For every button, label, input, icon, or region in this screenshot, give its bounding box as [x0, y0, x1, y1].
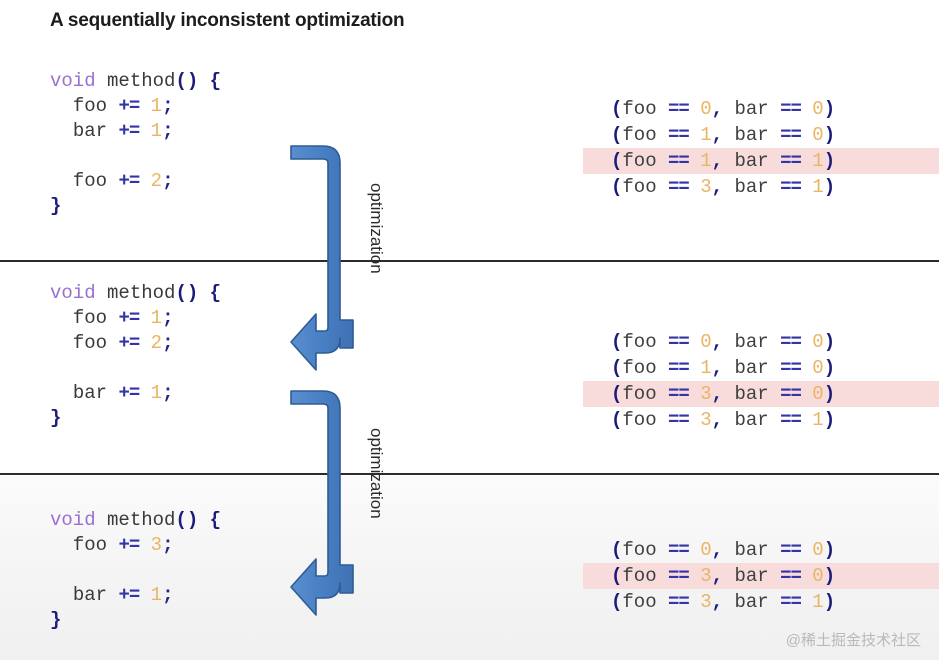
state-close-paren: ) — [824, 409, 835, 431]
state-equals: == — [668, 150, 689, 172]
token-variable: bar — [73, 120, 107, 142]
state-space — [801, 150, 812, 172]
state-open-paren: ( — [611, 383, 622, 405]
token-indent — [50, 332, 73, 354]
state-equals: == — [668, 565, 689, 587]
token-space — [107, 120, 118, 142]
page-title: A sequentially inconsistent optimization — [50, 10, 404, 32]
state-comma: , — [712, 124, 735, 146]
state-space — [801, 357, 812, 379]
state-space — [689, 331, 700, 353]
state-bar-value: 1 — [812, 150, 823, 172]
state-bar-label: bar — [734, 98, 780, 120]
token-indent — [50, 584, 73, 606]
state-space — [689, 176, 700, 198]
state-foo-value: 0 — [700, 539, 711, 561]
token-brace-close: } — [50, 609, 61, 631]
token-semicolon: ; — [162, 584, 173, 606]
state-foo-label: foo — [622, 331, 668, 353]
token-operator: += — [118, 170, 139, 192]
state-bar-value: 0 — [812, 357, 823, 379]
code-block-original: void method() { foo += 1; bar += 1; foo … — [50, 69, 221, 219]
state-open-paren: ( — [611, 150, 622, 172]
token-parens: () — [175, 509, 198, 531]
state-comma: , — [712, 331, 735, 353]
state-equals: == — [668, 591, 689, 613]
token-variable: bar — [73, 382, 107, 404]
state-line: (foo == 0, bar == 0) — [583, 329, 939, 355]
token-variable: foo — [73, 95, 107, 117]
token-operator: += — [118, 332, 139, 354]
state-space — [801, 98, 812, 120]
state-bar-label: bar — [734, 409, 780, 431]
code-line-blank — [50, 356, 221, 381]
state-list-original: (foo == 0, bar == 0)(foo == 1, bar == 0)… — [583, 96, 939, 200]
token-keyword: void — [50, 70, 96, 92]
state-equals: == — [668, 124, 689, 146]
state-bar-value: 0 — [812, 539, 823, 561]
state-bar-value: 1 — [812, 176, 823, 198]
state-equals: == — [668, 409, 689, 431]
state-equals: == — [668, 98, 689, 120]
state-open-paren: ( — [611, 357, 622, 379]
state-space — [801, 565, 812, 587]
token-space — [107, 95, 118, 117]
state-open-paren: ( — [611, 98, 622, 120]
state-line: (foo == 1, bar == 0) — [583, 355, 939, 381]
token-semicolon: ; — [162, 332, 173, 354]
state-open-paren: ( — [611, 539, 622, 561]
token-semicolon: ; — [162, 307, 173, 329]
token-semicolon: ; — [162, 120, 173, 142]
state-equals: == — [780, 150, 801, 172]
state-foo-value: 3 — [700, 565, 711, 587]
arrow-label-1: optimization — [366, 183, 386, 274]
state-equals: == — [668, 176, 689, 198]
state-foo-label: foo — [622, 383, 668, 405]
state-line-highlighted: (foo == 1, bar == 1) — [583, 148, 939, 174]
token-space — [107, 332, 118, 354]
token-indent — [50, 534, 73, 556]
code-line-blank — [50, 558, 221, 583]
state-foo-label: foo — [622, 98, 668, 120]
token-keyword: void — [50, 282, 96, 304]
token-indent — [50, 382, 73, 404]
token-space — [139, 307, 150, 329]
state-close-paren: ) — [824, 176, 835, 198]
state-foo-value: 3 — [700, 383, 711, 405]
code-line-statement: bar += 1; — [50, 119, 221, 144]
state-space — [801, 591, 812, 613]
token-space — [107, 307, 118, 329]
token-operator: += — [118, 534, 139, 556]
code-block-optimized-twice: void method() { foo += 3; bar += 1;} — [50, 508, 221, 633]
token-semicolon: ; — [162, 534, 173, 556]
state-equals: == — [668, 331, 689, 353]
token-identifier: method — [96, 70, 176, 92]
state-close-paren: ) — [824, 383, 835, 405]
state-foo-label: foo — [622, 150, 668, 172]
token-identifier: method — [96, 282, 176, 304]
token-space — [107, 534, 118, 556]
state-equals: == — [780, 176, 801, 198]
state-line: (foo == 3, bar == 1) — [583, 407, 939, 433]
code-line-signature: void method() { — [50, 508, 221, 533]
token-semicolon: ; — [162, 382, 173, 404]
token-number: 2 — [151, 170, 162, 192]
state-space — [801, 383, 812, 405]
token-indent — [50, 120, 73, 142]
state-line: (foo == 3, bar == 1) — [583, 589, 939, 615]
state-equals: == — [780, 591, 801, 613]
state-foo-value: 1 — [700, 357, 711, 379]
state-foo-value: 3 — [700, 409, 711, 431]
token-operator: += — [118, 382, 139, 404]
token-brace-open: { — [198, 509, 221, 531]
state-close-paren: ) — [824, 591, 835, 613]
token-space — [139, 534, 150, 556]
token-parens: () — [175, 282, 198, 304]
state-bar-label: bar — [734, 176, 780, 198]
token-identifier: method — [96, 509, 176, 531]
state-close-paren: ) — [824, 565, 835, 587]
state-foo-label: foo — [622, 591, 668, 613]
state-space — [801, 124, 812, 146]
state-bar-value: 0 — [812, 331, 823, 353]
state-bar-value: 1 — [812, 409, 823, 431]
state-space — [689, 539, 700, 561]
code-line-brace-close: } — [50, 406, 221, 431]
state-line: (foo == 0, bar == 0) — [583, 537, 939, 563]
state-comma: , — [712, 565, 735, 587]
token-space — [139, 170, 150, 192]
state-space — [689, 98, 700, 120]
state-foo-value: 0 — [700, 98, 711, 120]
state-bar-label: bar — [734, 124, 780, 146]
token-brace-open: { — [198, 70, 221, 92]
state-comma: , — [712, 409, 735, 431]
token-space — [107, 382, 118, 404]
state-comma: , — [712, 383, 735, 405]
state-comma: , — [712, 539, 735, 561]
token-space — [139, 382, 150, 404]
state-foo-value: 1 — [700, 150, 711, 172]
state-open-paren: ( — [611, 565, 622, 587]
state-space — [689, 124, 700, 146]
state-equals: == — [780, 539, 801, 561]
code-line-statement: foo += 3; — [50, 533, 221, 558]
state-space — [801, 539, 812, 561]
section-divider-1 — [0, 260, 939, 262]
state-close-paren: ) — [824, 357, 835, 379]
state-space — [801, 176, 812, 198]
state-close-paren: ) — [824, 331, 835, 353]
state-equals: == — [668, 539, 689, 561]
token-operator: += — [118, 120, 139, 142]
state-foo-label: foo — [622, 357, 668, 379]
code-line-statement: foo += 1; — [50, 306, 221, 331]
state-foo-value: 3 — [700, 176, 711, 198]
token-brace-open: { — [198, 282, 221, 304]
state-space — [689, 357, 700, 379]
state-bar-label: bar — [734, 539, 780, 561]
state-foo-label: foo — [622, 176, 668, 198]
state-bar-value: 0 — [812, 383, 823, 405]
state-equals: == — [780, 98, 801, 120]
token-brace-close: } — [50, 407, 61, 429]
state-comma: , — [712, 176, 735, 198]
state-bar-label: bar — [734, 357, 780, 379]
token-variable: foo — [73, 332, 107, 354]
state-close-paren: ) — [824, 539, 835, 561]
code-line-signature: void method() { — [50, 281, 221, 306]
state-foo-label: foo — [622, 565, 668, 587]
state-foo-value: 1 — [700, 124, 711, 146]
token-variable: foo — [73, 534, 107, 556]
state-line: (foo == 3, bar == 1) — [583, 174, 939, 200]
code-line-statement: foo += 2; — [50, 331, 221, 356]
token-number: 3 — [151, 534, 162, 556]
state-bar-value: 0 — [812, 124, 823, 146]
state-bar-label: bar — [734, 591, 780, 613]
state-open-paren: ( — [611, 176, 622, 198]
state-bar-label: bar — [734, 150, 780, 172]
state-equals: == — [780, 409, 801, 431]
state-line: (foo == 1, bar == 0) — [583, 122, 939, 148]
state-space — [801, 409, 812, 431]
state-bar-label: bar — [734, 331, 780, 353]
token-number: 1 — [151, 584, 162, 606]
code-block-optimized-once: void method() { foo += 1; foo += 2; bar … — [50, 281, 221, 431]
state-close-paren: ) — [824, 150, 835, 172]
state-open-paren: ( — [611, 591, 622, 613]
state-equals: == — [780, 383, 801, 405]
token-operator: += — [118, 584, 139, 606]
state-list-optimized-twice: (foo == 0, bar == 0)(foo == 3, bar == 0)… — [583, 537, 939, 615]
state-bar-value: 1 — [812, 591, 823, 613]
state-space — [801, 331, 812, 353]
code-line-brace-close: } — [50, 194, 221, 219]
token-indent — [50, 95, 73, 117]
state-open-paren: ( — [611, 331, 622, 353]
state-comma: , — [712, 98, 735, 120]
token-number: 1 — [151, 382, 162, 404]
state-bar-label: bar — [734, 565, 780, 587]
state-close-paren: ) — [824, 98, 835, 120]
state-foo-value: 0 — [700, 331, 711, 353]
state-equals: == — [780, 565, 801, 587]
state-foo-label: foo — [622, 409, 668, 431]
state-line-highlighted: (foo == 3, bar == 0) — [583, 381, 939, 407]
token-operator: += — [118, 95, 139, 117]
state-bar-value: 0 — [812, 565, 823, 587]
state-line: (foo == 0, bar == 0) — [583, 96, 939, 122]
state-space — [689, 591, 700, 613]
state-bar-value: 0 — [812, 98, 823, 120]
token-operator: += — [118, 307, 139, 329]
state-equals: == — [780, 357, 801, 379]
state-space — [689, 565, 700, 587]
state-foo-label: foo — [622, 539, 668, 561]
token-variable: bar — [73, 584, 107, 606]
token-number: 1 — [151, 95, 162, 117]
state-space — [689, 150, 700, 172]
state-equals: == — [780, 331, 801, 353]
token-indent — [50, 170, 73, 192]
token-semicolon: ; — [162, 95, 173, 117]
state-open-paren: ( — [611, 409, 622, 431]
token-indent — [50, 307, 73, 329]
code-line-statement: foo += 2; — [50, 169, 221, 194]
code-line-brace-close: } — [50, 608, 221, 633]
state-open-paren: ( — [611, 124, 622, 146]
state-equals: == — [780, 124, 801, 146]
state-bar-label: bar — [734, 383, 780, 405]
arrow-label-2: optimization — [366, 428, 386, 519]
token-semicolon: ; — [162, 170, 173, 192]
token-space — [107, 584, 118, 606]
token-space — [139, 584, 150, 606]
state-equals: == — [668, 383, 689, 405]
code-line-statement: bar += 1; — [50, 381, 221, 406]
state-equals: == — [668, 357, 689, 379]
state-close-paren: ) — [824, 124, 835, 146]
token-variable: foo — [73, 307, 107, 329]
state-line-highlighted: (foo == 3, bar == 0) — [583, 563, 939, 589]
token-space — [107, 170, 118, 192]
token-space — [139, 95, 150, 117]
section-divider-2 — [0, 473, 939, 475]
code-line-statement: foo += 1; — [50, 94, 221, 119]
token-number: 1 — [151, 307, 162, 329]
state-space — [689, 409, 700, 431]
token-space — [139, 120, 150, 142]
code-line-blank — [50, 144, 221, 169]
token-brace-close: } — [50, 195, 61, 217]
state-comma: , — [712, 357, 735, 379]
state-comma: , — [712, 591, 735, 613]
token-space — [139, 332, 150, 354]
state-list-optimized-once: (foo == 0, bar == 0)(foo == 1, bar == 0)… — [583, 329, 939, 433]
token-number: 2 — [151, 332, 162, 354]
code-line-signature: void method() { — [50, 69, 221, 94]
token-variable: foo — [73, 170, 107, 192]
code-line-statement: bar += 1; — [50, 583, 221, 608]
state-foo-value: 3 — [700, 591, 711, 613]
token-number: 1 — [151, 120, 162, 142]
token-keyword: void — [50, 509, 96, 531]
state-space — [689, 383, 700, 405]
slide-canvas: A sequentially inconsistent optimization… — [0, 0, 939, 660]
watermark: @稀土掘金技术社区 — [786, 629, 921, 650]
state-foo-label: foo — [622, 124, 668, 146]
state-comma: , — [712, 150, 735, 172]
token-parens: () — [175, 70, 198, 92]
